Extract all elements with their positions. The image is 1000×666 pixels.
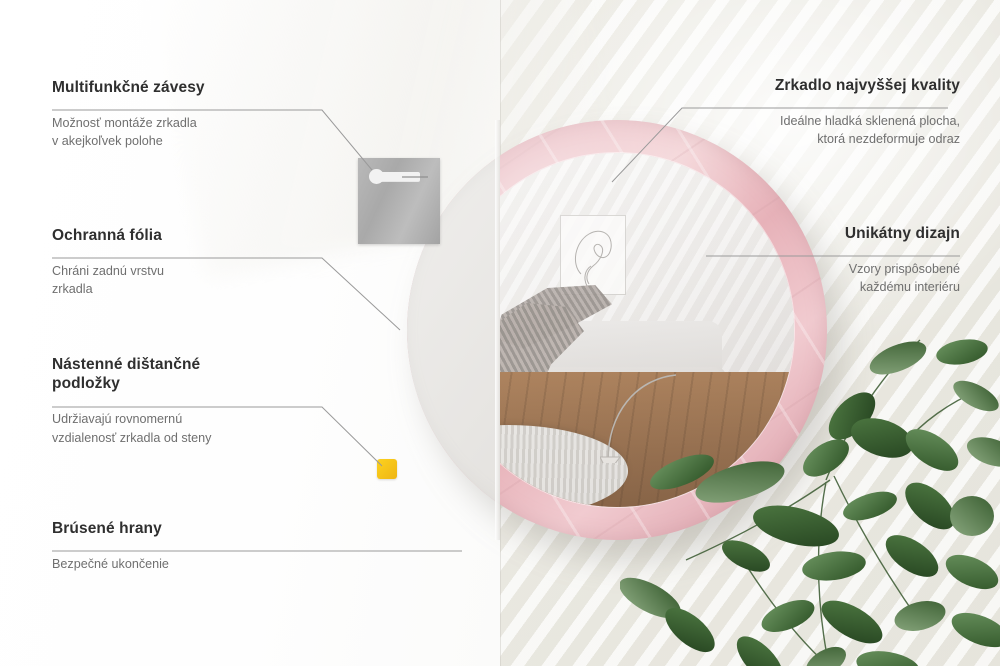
callout-title: Brúsené hrany	[52, 519, 352, 538]
callout-rule-spacer	[52, 252, 314, 253]
callout-rule-spacer	[52, 400, 314, 401]
wall-spacer-pad-icon	[377, 459, 397, 479]
callout-rule-spacer	[52, 104, 314, 105]
callout-line-1: Možnosť montáže zrkadla	[52, 116, 197, 130]
callout-title: Unikátny dizajn	[660, 224, 960, 243]
round-mirror	[407, 120, 827, 540]
callout-rule-spacer	[660, 250, 960, 251]
callout-line-2: ktorá nezdeformuje odraz	[817, 132, 960, 146]
hanger-plate-icon	[358, 158, 440, 244]
callout-line-1: Udržiavajú rovnomernú	[52, 412, 182, 426]
callout-title-line-1: Nástenné dištančné	[52, 356, 200, 373]
callout-line-1: Chráni zadnú vrstvu	[52, 264, 164, 278]
callout-description: Ideálne hladká sklenená plocha, ktorá ne…	[630, 112, 960, 149]
callout-description: Možnosť montáže zrkadla v akejkoľvek pol…	[52, 114, 314, 151]
callout-nastenne-distancne-podlozky: Nástenné dištančné podložky Udržiavajú r…	[52, 355, 314, 447]
callout-title: Ochranná fólia	[52, 226, 314, 245]
callout-line-1: Vzory prispôsobené	[849, 262, 960, 276]
callout-line-1: Ideálne hladká sklenená plocha,	[780, 114, 960, 128]
callout-description: Chráni zadnú vrstvu zrkadla	[52, 262, 314, 299]
hanger-screw-line	[402, 176, 428, 178]
callout-rule-spacer	[52, 545, 352, 546]
callout-title: Nástenné dištančné podložky	[52, 355, 314, 393]
callout-title-line-2: podložky	[52, 375, 120, 392]
callout-unikatny-dizajn: Unikátny dizajn Vzory prispôsobené každé…	[660, 224, 960, 297]
callout-line-2: zrkadla	[52, 282, 93, 296]
callout-title: Zrkadlo najvyššej kvality	[630, 76, 960, 95]
callout-line-2: v akejkoľvek polohe	[52, 134, 163, 148]
callout-ochranna-folia: Ochranná fólia Chráni zadnú vrstvu zrkad…	[52, 226, 314, 299]
callout-multifunkcne-zavesy: Multifunkčné závesy Možnosť montáže zrka…	[52, 78, 314, 151]
callout-zrkadlo-najvyssej-kvality: Zrkadlo najvyššej kvality Ideálne hladká…	[630, 76, 960, 149]
callout-rule-spacer	[630, 102, 960, 103]
callout-description: Vzory prispôsobené každému interiéru	[660, 260, 960, 297]
callout-description: Udržiavajú rovnomernú vzdialenosť zrkadl…	[52, 410, 314, 447]
callout-line-2: vzdialenosť zrkadla od steny	[52, 431, 211, 445]
callout-brusene-hrany: Brúsené hrany Bezpečné ukončenie	[52, 519, 352, 573]
callout-line-2: každému interiéru	[860, 280, 960, 294]
callout-description: Bezpečné ukončenie	[52, 555, 352, 573]
infographic-canvas: Multifunkčné závesy Možnosť montáže zrka…	[0, 0, 1000, 666]
callout-title: Multifunkčné závesy	[52, 78, 314, 97]
callout-line-1: Bezpečné ukončenie	[52, 557, 169, 571]
